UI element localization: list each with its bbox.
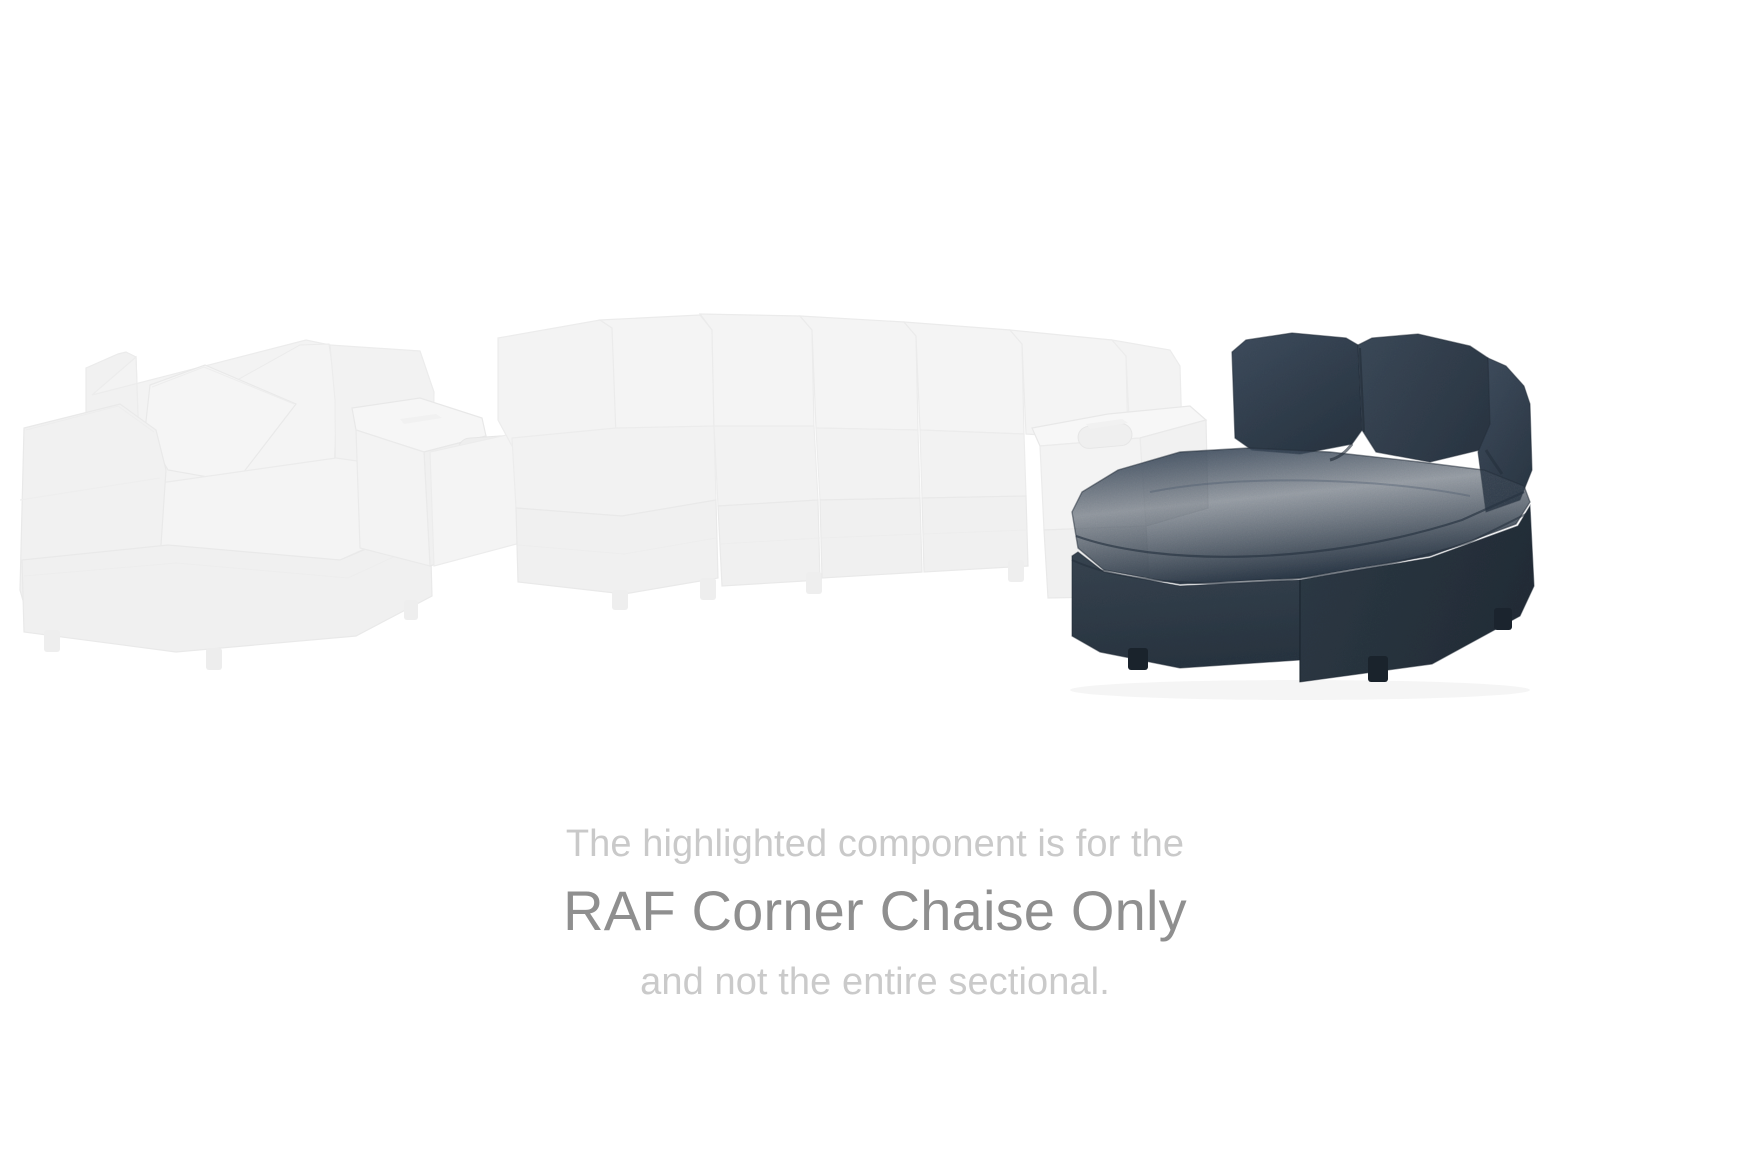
ghosted-sectional — [20, 314, 1208, 670]
ghost-module-armless-right-2 — [904, 322, 1028, 582]
ghost-module-corner-wedge — [700, 314, 822, 600]
product-illustration — [0, 0, 1750, 790]
caption-line-bottom: and not the entire sectional. — [0, 953, 1750, 1011]
sofa-foot — [1368, 656, 1388, 682]
ghost-module-left-console — [352, 398, 524, 566]
sectional-diagram — [0, 0, 1750, 790]
caption-block: The highlighted component is for the RAF… — [0, 815, 1750, 1011]
floor-shadow — [1070, 680, 1530, 700]
caption-line-top: The highlighted component is for the — [0, 815, 1750, 873]
sofa-foot — [1128, 648, 1148, 670]
caption-line-main: RAF Corner Chaise Only — [0, 873, 1750, 949]
cupholder-icon — [1077, 423, 1133, 450]
screenshot-root: The highlighted component is for the RAF… — [0, 0, 1750, 1167]
ghost-module-armless-left — [498, 315, 718, 610]
sofa-foot — [1494, 608, 1512, 630]
